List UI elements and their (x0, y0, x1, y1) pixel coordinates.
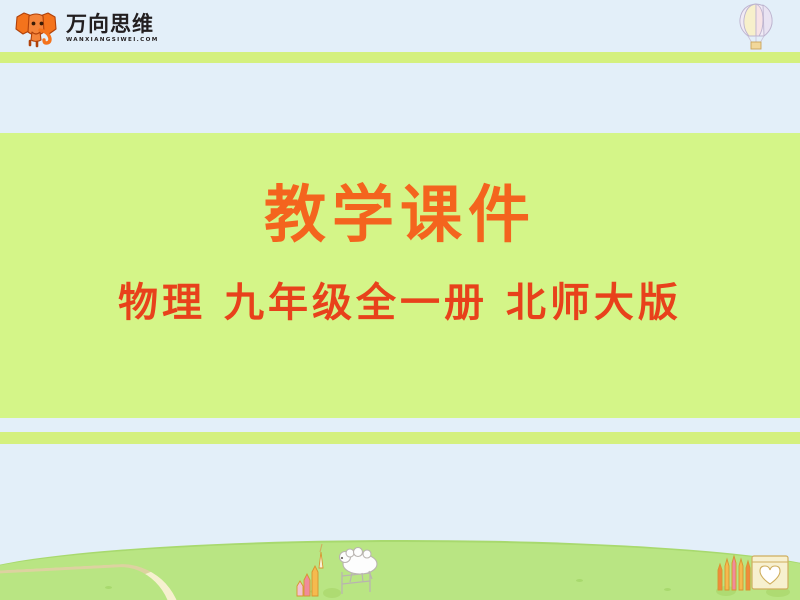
grass-tuft-icon (105, 586, 112, 589)
title-block: 教学课件 物理 九年级全一册 北师大版 (0, 175, 800, 329)
elephant-logo-icon (10, 8, 62, 48)
brand-name-cn: 万向思维 (66, 13, 159, 36)
heart-card-and-crayons-icon (712, 544, 800, 600)
brand-name-en: WANXIANGSIWEI.COM (66, 36, 159, 44)
grass-tuft-icon (664, 588, 671, 591)
grass-tuft-icon (576, 579, 583, 582)
presentation-slide: 万向思维 WANXIANGSIWEI.COM 教学课件 物理 九年级全一册 北师… (0, 0, 800, 600)
page-subtitle: 物理 九年级全一册 北师大版 (0, 277, 800, 329)
brand-logo: 万向思维 WANXIANGSIWEI.COM (10, 6, 170, 50)
page-title: 教学课件 (0, 175, 800, 255)
top-accent-stripe (0, 52, 800, 63)
lower-accent-stripe (0, 432, 800, 444)
brand-wordmark: 万向思维 WANXIANGSIWEI.COM (66, 13, 159, 44)
hot-air-balloon-icon (733, 2, 779, 52)
crayons-and-sheep-icon (292, 538, 400, 600)
